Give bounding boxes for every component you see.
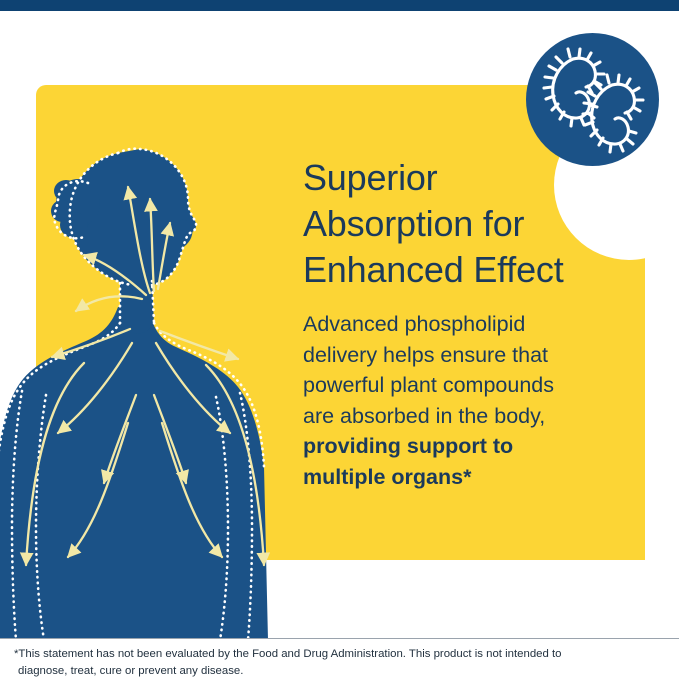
headline-line-2: Absorption for bbox=[303, 201, 633, 247]
body-line-2: delivery helps ensure that bbox=[303, 340, 633, 371]
disclaimer-text: *This statement has not been evaluated b… bbox=[14, 646, 665, 679]
top-accent-bar bbox=[0, 0, 679, 11]
headline: Superior Absorption for Enhanced Effect bbox=[303, 155, 633, 293]
body-line-4: are absorbed in the body, bbox=[303, 401, 633, 432]
body-line-6: multiple organs* bbox=[303, 462, 633, 493]
disclaimer-line-1: *This statement has not been evaluated b… bbox=[14, 646, 665, 663]
woman-back-silhouette bbox=[0, 95, 300, 640]
body-line-1: Advanced phospholipid bbox=[303, 309, 633, 340]
body-line-5: providing support to bbox=[303, 431, 633, 462]
text-column: Superior Absorption for Enhanced Effect … bbox=[303, 155, 633, 492]
body-copy: Advanced phospholipid delivery helps ens… bbox=[303, 309, 633, 492]
bacteria-microbe-icon bbox=[526, 33, 659, 166]
body-line-3: powerful plant compounds bbox=[303, 370, 633, 401]
headline-line-3: Enhanced Effect bbox=[303, 247, 633, 293]
woman-silhouette-illustration bbox=[0, 95, 300, 640]
headline-line-1: Superior bbox=[303, 155, 633, 201]
bacteria-badge bbox=[526, 33, 659, 166]
product-infographic: Superior Absorption for Enhanced Effect … bbox=[0, 0, 679, 679]
disclaimer-line-2: diagnose, treat, cure or prevent any dis… bbox=[14, 663, 665, 679]
disclaimer-footer: *This statement has not been evaluated b… bbox=[0, 638, 679, 679]
